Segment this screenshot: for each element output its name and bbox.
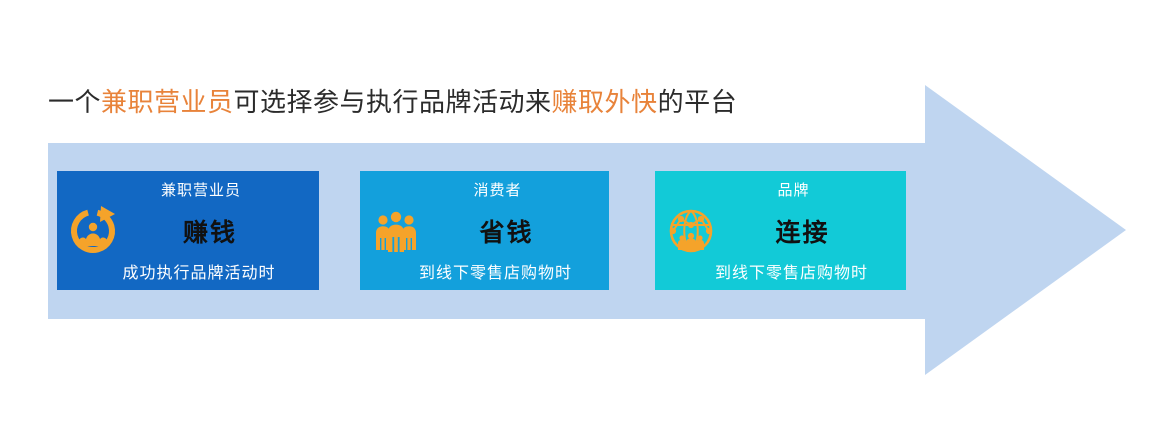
- card-footer-note: 到线下零售店购物时: [360, 259, 609, 283]
- card-title: 赚钱: [57, 213, 319, 249]
- headline-highlight-part-time-clerk: 兼职营业员: [101, 88, 234, 117]
- arrow-head: [925, 85, 1126, 375]
- card-footer-note: 到线下零售店购物时: [655, 259, 906, 283]
- card-header-label: 兼职营业员: [57, 179, 319, 200]
- headline-segment-3: 可选择参与执行品牌活动来: [234, 88, 552, 117]
- card-part-time-clerk[interactable]: 兼职营业员 赚钱 成功执行品牌活动时: [57, 171, 319, 290]
- card-consumer[interactable]: 消费者 省钱 到线下零售店购物时: [360, 171, 609, 290]
- headline-segment-5: 的平台: [658, 88, 738, 117]
- card-footer-note: 成功执行品牌活动时: [57, 259, 319, 283]
- card-title: 连接: [655, 213, 906, 249]
- headline-segment-1: 一个: [48, 88, 101, 117]
- page-title: 一个兼职营业员可选择参与执行品牌活动来赚取外快的平台: [48, 86, 737, 120]
- headline-highlight-earn-extra-income: 赚取外快: [552, 88, 658, 117]
- card-title: 省钱: [360, 213, 609, 249]
- card-header-label: 消费者: [360, 179, 609, 200]
- card-header-label: 品牌: [655, 179, 906, 200]
- card-brand[interactable]: 品牌 连接 到线下零售店购物时: [655, 171, 906, 290]
